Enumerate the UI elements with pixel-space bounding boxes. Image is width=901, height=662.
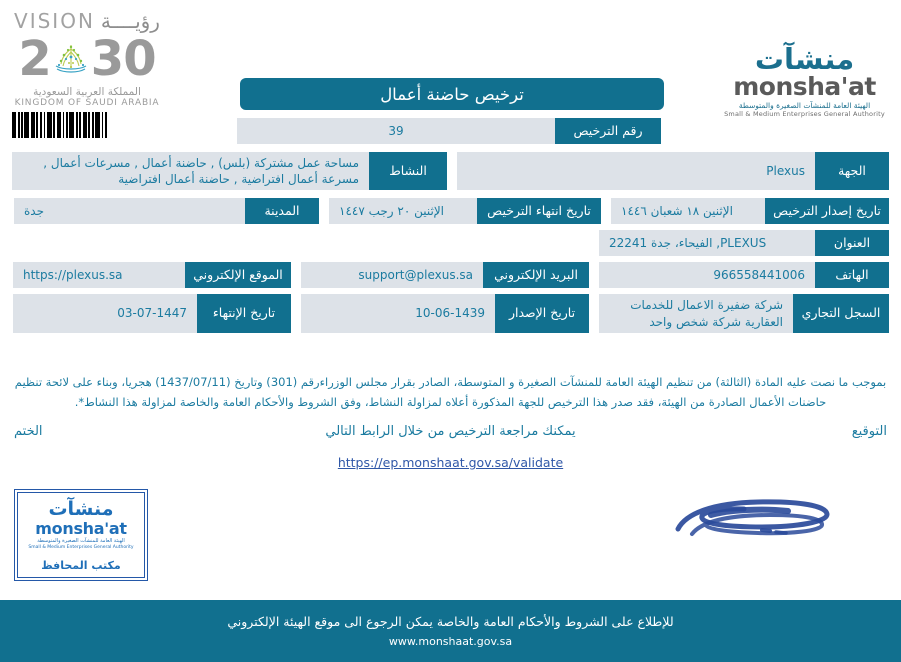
field-license-number: رقم الترخيص 39 [237,118,661,144]
row-entity: الجهة Plexus النشاط مساحة عمل مشتركة (بل… [12,152,889,190]
field-issue-date-hijri: تاريخ إصدار الترخيص الإثنين ١٨ شعبان ١٤٤… [611,198,889,224]
vision-word-en: VISION [14,9,95,33]
label-email: البريد الإلكتروني [483,262,589,288]
label-license-number: رقم الترخيص [555,118,661,144]
label-commercial-register: السجل التجاري [793,294,889,332]
license-document: VISION رؤيــــة 2 [0,0,901,662]
validate-link[interactable]: https://ep.monshaat.gov.sa/validate [0,455,901,470]
value-phone: 966558441006 [599,262,815,288]
stamp-label: الختم [14,424,43,439]
fields-container: رقم الترخيص 39 الجهة Plexus النشاط مساحة… [12,118,889,339]
monshaat-logo: منشآت monsha'at الهيئة العامة للمنشآت ال… [722,44,887,118]
field-entity: الجهة Plexus [457,152,889,190]
stamp-name-ar: منشآت [48,499,113,519]
value-city: جدة [14,198,245,224]
value-activity: مساحة عمل مشتركة (بلس) , حاضنة أعمال , م… [12,152,369,190]
row-address: العنوان PLEXUS, الفيحاء، جدة 22241 [12,230,889,256]
label-address: العنوان [815,230,889,256]
label-website: الموقع الإلكتروني [185,262,291,288]
label-cr-issue-date: تاريخ الإصدار [495,294,589,332]
vision-digit-2: 2 [18,35,50,83]
field-phone: الهاتف 966558441006 [599,262,889,288]
stamp-subtitle-ar: الهيئة العامة للمنشآت الصغيرة والمتوسطة [37,538,125,544]
label-phone: الهاتف [815,262,889,288]
official-stamp: منشآت monsha'at الهيئة العامة للمنشآت ال… [14,489,148,581]
value-cr-expiry-date: 03-07-1447 [13,294,197,332]
vision-subtitle-ar: المملكة العربية السعودية [12,86,162,98]
signature-labels-row: التوقيع يمكنك مراجعة الترخيص من خلال الر… [14,424,887,448]
value-issue-date-hijri: الإثنين ١٨ شعبان ١٤٤٦ [611,198,765,224]
row-commercial-register: السجل التجاري شركة ضفيرة الاعمال للخدمات… [12,294,889,332]
legal-disclaimer: بموجب ما نصت عليه المادة (الثالثة) من تن… [14,372,887,412]
row-license-number: رقم الترخيص 39 [12,118,889,144]
field-cr-issue-date: تاريخ الإصدار 10-06-1439 [301,294,589,332]
value-address: PLEXUS, الفيحاء، جدة 22241 [599,230,815,256]
vision-year: 2 [12,34,162,84]
vision-subtitle-en: KINGDOM OF SAUDI ARABIA [12,98,162,108]
row-dates-city: تاريخ إصدار الترخيص الإثنين ١٨ شعبان ١٤٤… [12,198,889,224]
value-email: support@plexus.sa [301,262,483,288]
label-city: المدينة [245,198,319,224]
value-commercial-register: شركة ضفيرة الاعمال للخدمات العقارية شركة… [599,294,793,332]
field-activity: النشاط مساحة عمل مشتركة (بلس) , حاضنة أع… [12,152,447,190]
monshaat-name-en: monsha'at [722,74,887,100]
label-cr-expiry-date: تاريخ الإنتهاء [197,294,291,332]
stamp-inner-border: منشآت monsha'at الهيئة العامة للمنشآت ال… [17,492,145,578]
stamp-office-label: مكتب المحافظ [41,559,121,572]
field-cr-expiry-date: تاريخ الإنتهاء 03-07-1447 [13,294,291,332]
handwritten-signature [666,485,856,555]
footer-text: للإطلاع على الشروط والأحكام العامة والخا… [227,614,673,629]
footer-url: www.monshaat.gov.sa [389,635,512,648]
field-city: المدينة جدة [14,198,319,224]
field-email: البريد الإلكتروني support@plexus.sa [301,262,589,288]
vision-2030-logo: VISION رؤيــــة 2 [12,8,162,108]
label-entity: الجهة [815,152,889,190]
label-expiry-date-hijri: تاريخ انتهاء الترخيص [477,198,601,224]
value-entity: Plexus [457,152,815,190]
field-website: الموقع الإلكتروني https://plexus.sa [13,262,291,288]
monshaat-name-ar: منشآت [722,44,887,74]
field-expiry-date-hijri: تاريخ انتهاء الترخيص الإثنين ٢٠ رجب ١٤٤٧ [329,198,601,224]
value-expiry-date-hijri: الإثنين ٢٠ رجب ١٤٤٧ [329,198,477,224]
value-license-number: 39 [237,118,555,144]
monshaat-subtitle-ar: الهيئة العامة للمنشآت الصغيرة والمتوسطة [722,101,887,110]
value-website: https://plexus.sa [13,262,185,288]
field-address: العنوان PLEXUS, الفيحاء، جدة 22241 [599,230,889,256]
row-contact: الهاتف 966558441006 البريد الإلكتروني su… [12,262,889,288]
document-title: ترخيص حاضنة أعمال [240,78,664,110]
stamp-subtitle-en: Small & Medium Enterprises General Autho… [28,545,133,551]
label-activity: النشاط [369,152,447,190]
vision-digit-30: 30 [91,35,156,83]
vision-word-ar: رؤيــــة [101,9,160,33]
validate-instruction: يمكنك مراجعة الترخيص من خلال الرابط التا… [14,424,887,439]
stamp-name-en: monsha'at [35,520,126,537]
field-commercial-register: السجل التجاري شركة ضفيرة الاعمال للخدمات… [599,294,889,332]
saudi-palm-swords-emblem [49,37,93,81]
value-cr-issue-date: 10-06-1439 [301,294,495,332]
monshaat-subtitle-en: Small & Medium Enterprises General Autho… [722,110,887,118]
label-issue-date-hijri: تاريخ إصدار الترخيص [765,198,889,224]
document-footer: للإطلاع على الشروط والأحكام العامة والخا… [0,600,901,662]
